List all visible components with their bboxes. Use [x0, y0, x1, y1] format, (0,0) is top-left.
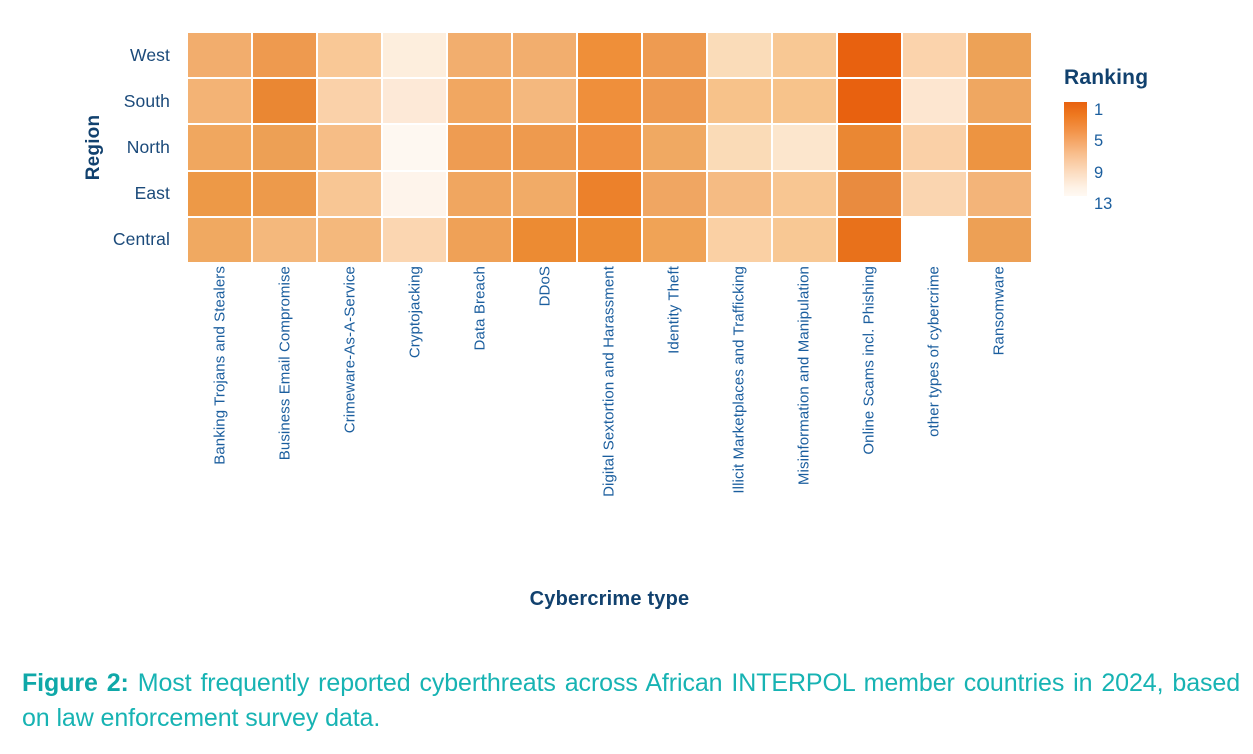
heatmap-cell — [773, 79, 836, 123]
y-axis-tick-label: Central — [60, 216, 180, 262]
legend-tick-label: 5 — [1094, 133, 1103, 150]
x-axis-tick-slot: Identity Theft — [642, 266, 707, 566]
x-axis-tick-label: Identity Theft — [667, 266, 682, 354]
y-axis-tick-label: East — [60, 170, 180, 216]
heatmap-cell — [643, 79, 706, 123]
heatmap-cell — [903, 79, 966, 123]
heatmap-cell — [513, 33, 576, 77]
heatmap-cell — [188, 218, 251, 262]
x-axis-tick-label: DDoS — [537, 266, 552, 306]
x-axis-tick-slot: Business Email Compromise — [253, 266, 318, 566]
heatmap-cell — [188, 33, 251, 77]
x-axis-tick-slot: Ransomware — [966, 266, 1031, 566]
x-axis-tick-label: Misinformation and Manipulation — [797, 266, 812, 485]
legend-tick-label: 13 — [1094, 196, 1112, 213]
heatmap-cell — [968, 172, 1031, 216]
heatmap-cell — [188, 79, 251, 123]
x-axis-tick-label: Ransomware — [991, 266, 1006, 355]
x-axis-tick-label: Illicit Marketplaces and Trafficking — [732, 266, 747, 494]
heatmap-cell — [188, 125, 251, 169]
heatmap-cell — [968, 218, 1031, 262]
legend-colorbar — [1064, 102, 1087, 196]
y-axis-tick-label: North — [60, 125, 180, 171]
heatmap-cell — [318, 172, 381, 216]
x-axis-tick-slot: Cryptojacking — [383, 266, 448, 566]
figure-caption: Figure 2: Most frequently reported cyber… — [22, 666, 1240, 735]
heatmap-cell — [253, 125, 316, 169]
heatmap-cell — [448, 218, 511, 262]
heatmap-cell — [253, 172, 316, 216]
heatmap-cell — [903, 125, 966, 169]
x-axis-tick-slot: Misinformation and Manipulation — [772, 266, 837, 566]
y-axis-tick-labels: WestSouthNorthEastCentral — [60, 33, 180, 262]
legend-tick-label: 9 — [1094, 165, 1103, 182]
heatmap-cell — [513, 218, 576, 262]
heatmap-cell — [318, 79, 381, 123]
heatmap-cell — [903, 172, 966, 216]
heatmap-cell — [318, 125, 381, 169]
x-axis-tick-label: Cryptojacking — [407, 266, 422, 358]
x-axis-tick-label: other types of cybercrime — [926, 266, 941, 437]
heatmap-cell — [448, 172, 511, 216]
legend-body: 15913 — [1062, 102, 1242, 212]
legend-tick-labels: 15913 — [1094, 94, 1154, 204]
x-axis-tick-slot: other types of cybercrime — [901, 266, 966, 566]
heatmap-cell — [708, 125, 771, 169]
heatmap-cell — [903, 33, 966, 77]
heatmap-cell — [253, 79, 316, 123]
heatmap-grid — [188, 33, 1031, 262]
figure-root: Region WestSouthNorthEastCentral Banking… — [0, 0, 1253, 754]
x-axis-tick-slot: Data Breach — [447, 266, 512, 566]
heatmap-cell — [643, 33, 706, 77]
heatmap-cell — [708, 33, 771, 77]
heatmap-cell — [968, 79, 1031, 123]
heatmap-cell — [838, 218, 901, 262]
heatmap-cell — [253, 218, 316, 262]
heatmap-cell — [578, 172, 641, 216]
x-axis-tick-slot: Online Scams incl. Phishing — [836, 266, 901, 566]
heatmap-cell — [643, 125, 706, 169]
heatmap-cell — [708, 79, 771, 123]
x-axis-tick-slot: DDoS — [512, 266, 577, 566]
figure-caption-label: Figure 2: — [22, 669, 129, 697]
heatmap-cell — [708, 218, 771, 262]
x-axis-tick-label: Business Email Compromise — [278, 266, 293, 460]
x-axis-tick-label: Online Scams incl. Phishing — [861, 266, 876, 455]
heatmap-cell — [773, 218, 836, 262]
heatmap-plot-area — [188, 33, 1031, 262]
heatmap-cell — [448, 33, 511, 77]
heatmap-cell — [643, 172, 706, 216]
heatmap-cell — [513, 172, 576, 216]
heatmap-cell — [838, 125, 901, 169]
x-axis-tick-slot: Digital Sextortion and Harassment — [577, 266, 642, 566]
x-axis-tick-label: Data Breach — [472, 266, 487, 350]
heatmap-cell — [383, 79, 446, 123]
heatmap-cell — [318, 33, 381, 77]
x-axis-tick-slot: Banking Trojans and Stealers — [188, 266, 253, 566]
heatmap-cell — [513, 79, 576, 123]
heatmap-cell — [188, 172, 251, 216]
heatmap-cell — [838, 33, 901, 77]
heatmap-cell — [578, 79, 641, 123]
legend: Ranking 15913 — [1062, 66, 1242, 212]
x-axis-tick-label: Crimeware-As-A-Service — [343, 266, 358, 433]
heatmap-cell — [318, 218, 381, 262]
heatmap-cell — [773, 172, 836, 216]
heatmap-cell — [773, 33, 836, 77]
heatmap-cell — [383, 218, 446, 262]
heatmap-cell — [903, 218, 966, 262]
heatmap-cell — [578, 125, 641, 169]
heatmap-cell — [578, 33, 641, 77]
heatmap-cell — [773, 125, 836, 169]
heatmap-cell — [968, 33, 1031, 77]
heatmap-cell — [708, 172, 771, 216]
x-axis-tick-slot: Crimeware-As-A-Service — [318, 266, 383, 566]
x-axis-tick-label: Banking Trojans and Stealers — [213, 266, 228, 465]
figure-caption-text: Most frequently reported cyberthreats ac… — [22, 669, 1240, 732]
x-axis-tick-slot: Illicit Marketplaces and Trafficking — [707, 266, 772, 566]
heatmap-cell — [448, 79, 511, 123]
heatmap-cell — [448, 125, 511, 169]
y-axis-tick-label: West — [60, 33, 180, 79]
heatmap-cell — [838, 172, 901, 216]
x-axis-tick-labels: Banking Trojans and StealersBusiness Ema… — [188, 266, 1031, 566]
heatmap-cell — [968, 125, 1031, 169]
legend-title: Ranking — [1064, 66, 1242, 90]
heatmap-cell — [513, 125, 576, 169]
legend-tick-label: 1 — [1094, 102, 1103, 119]
heatmap-cell — [253, 33, 316, 77]
heatmap-cell — [383, 33, 446, 77]
heatmap-cell — [643, 218, 706, 262]
heatmap-cell — [578, 218, 641, 262]
heatmap-cell — [383, 125, 446, 169]
heatmap-cell — [838, 79, 901, 123]
heatmap-cell — [383, 172, 446, 216]
x-axis-title: Cybercrime type — [188, 588, 1031, 611]
x-axis-tick-label: Digital Sextortion and Harassment — [602, 266, 617, 497]
y-axis-tick-label: South — [60, 79, 180, 125]
